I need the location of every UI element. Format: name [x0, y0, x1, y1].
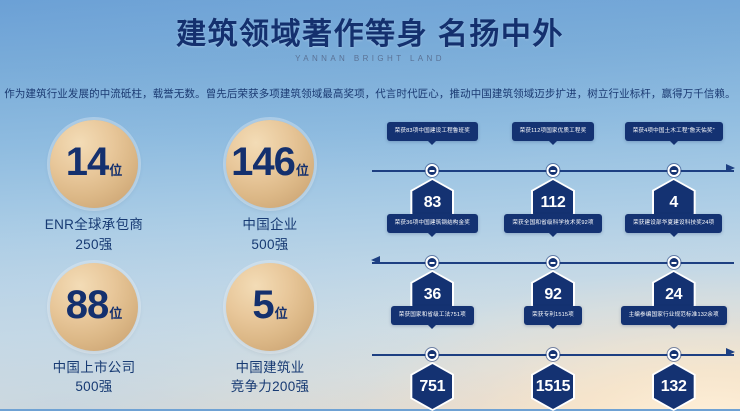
stats-grid: 14 位 ENR全球承包商 250强 146 位 中国企业 500强 — [6, 120, 358, 405]
stat-badge-circle: 14 位 — [50, 120, 138, 208]
stat-card: 146 位 中国企业 500强 — [182, 120, 358, 263]
stat-card: 88 位 中国上市公司 500强 — [6, 263, 182, 406]
stat-label-line2: 500强 — [53, 377, 136, 397]
stat-label-line1: 中国上市公司 — [53, 358, 136, 378]
awards-timeline: 荣获83项中国建设工程鲁班奖 83 荣获112项国家优质工程奖 112 荣获4项… — [372, 120, 734, 405]
timeline-dot-icon — [547, 348, 560, 361]
award-caption: 荣获112项国家优质工程奖 — [512, 122, 595, 141]
timeline-dot-icon — [547, 256, 560, 269]
stat-value: 146 — [231, 142, 295, 182]
stat-badge-circle: 88 位 — [50, 263, 138, 351]
page-title: 建筑领域著作等身 名扬中外 — [0, 16, 740, 54]
stat-badge-circle: 5 位 — [226, 263, 314, 351]
timeline-node[interactable]: 荣获4项中国土木工程“詹天佑奖” 4 — [613, 120, 734, 212]
stat-label: 中国上市公司 500强 — [53, 358, 136, 397]
award-caption: 荣获4项中国土木工程“詹天佑奖” — [625, 122, 723, 141]
stat-label-line2: 250强 — [45, 235, 143, 255]
timeline-dot-icon — [667, 164, 680, 177]
stat-label: 中国企业 500强 — [242, 215, 297, 254]
award-caption: 荣获建设部华夏建设科技奖24项 — [625, 214, 722, 233]
timeline-dot-icon — [547, 164, 560, 177]
timeline-node[interactable]: 荣获112项国家优质工程奖 112 — [493, 120, 614, 212]
stat-unit: 位 — [109, 160, 122, 179]
award-caption: 荣获36项中国建筑钢结构金奖 — [387, 214, 478, 233]
timeline-row: 荣获83项中国建设工程鲁班奖 83 荣获112项国家优质工程奖 112 荣获4项… — [372, 120, 734, 212]
timeline-node[interactable]: 荣获建设部华夏建设科技奖24项 24 — [613, 212, 734, 304]
stat-unit: 位 — [296, 160, 309, 179]
timeline-dot-icon — [426, 164, 439, 177]
timeline-node[interactable]: 荣获专利1515项 1515 — [493, 304, 614, 396]
page-root: 建筑领域著作等身 名扬中外 YANNAN BRIGHT LAND 作为建筑行业发… — [0, 0, 740, 409]
stat-label: ENR全球承包商 250强 — [45, 215, 143, 254]
award-caption: 荣获国家和省级工法751项 — [391, 306, 474, 325]
stat-value: 14 — [66, 142, 109, 182]
award-caption: 荣获全国和省级科学技术奖92项 — [504, 214, 601, 233]
page-description: 作为建筑行业发展的中流砥柱，载誉无数。曾先后荣获多项建筑领域最高奖项，代言时代匠… — [0, 86, 740, 101]
award-caption: 荣获83项中国建设工程鲁班奖 — [387, 122, 478, 141]
timeline-dot-icon — [667, 256, 680, 269]
timeline-node[interactable]: 荣获36项中国建筑钢结构金奖 36 — [372, 212, 493, 304]
stat-label-line1: 中国企业 — [242, 215, 297, 235]
stat-label-line1: 中国建筑业 — [231, 358, 310, 378]
timeline-row: 荣获36项中国建筑钢结构金奖 36 荣获全国和省级科学技术奖92项 92 荣获建… — [372, 212, 734, 304]
timeline-dot-icon — [667, 348, 680, 361]
stat-unit: 位 — [275, 303, 288, 322]
stat-card: 14 位 ENR全球承包商 250强 — [6, 120, 182, 263]
timeline-dot-icon — [426, 348, 439, 361]
stat-unit: 位 — [109, 303, 122, 322]
timeline-node[interactable]: 主编参编国家行业规范标准132余项 132 — [613, 304, 734, 396]
timeline-node[interactable]: 荣获全国和省级科学技术奖92项 92 — [493, 212, 614, 304]
stat-label-line1: ENR全球承包商 — [45, 215, 143, 235]
stat-card: 5 位 中国建筑业 竞争力200强 — [182, 263, 358, 406]
timeline-row: 荣获国家和省级工法751项 751 荣获专利1515项 1515 主编参编国家行… — [372, 304, 734, 396]
timeline-dot-icon — [426, 256, 439, 269]
timeline-node[interactable]: 荣获83项中国建设工程鲁班奖 83 — [372, 120, 493, 212]
stat-label-line2: 竞争力200强 — [231, 377, 310, 397]
award-caption: 主编参编国家行业规范标准132余项 — [621, 306, 727, 325]
stat-label: 中国建筑业 竞争力200强 — [231, 358, 310, 397]
timeline-node[interactable]: 荣获国家和省级工法751项 751 — [372, 304, 493, 396]
award-caption: 荣获专利1515项 — [524, 306, 582, 325]
stat-label-line2: 500强 — [242, 235, 297, 255]
stat-value: 88 — [66, 285, 109, 325]
stat-badge-circle: 146 位 — [226, 120, 314, 208]
page-subtitle-english: YANNAN BRIGHT LAND — [0, 54, 740, 63]
stat-value: 5 — [252, 285, 273, 325]
